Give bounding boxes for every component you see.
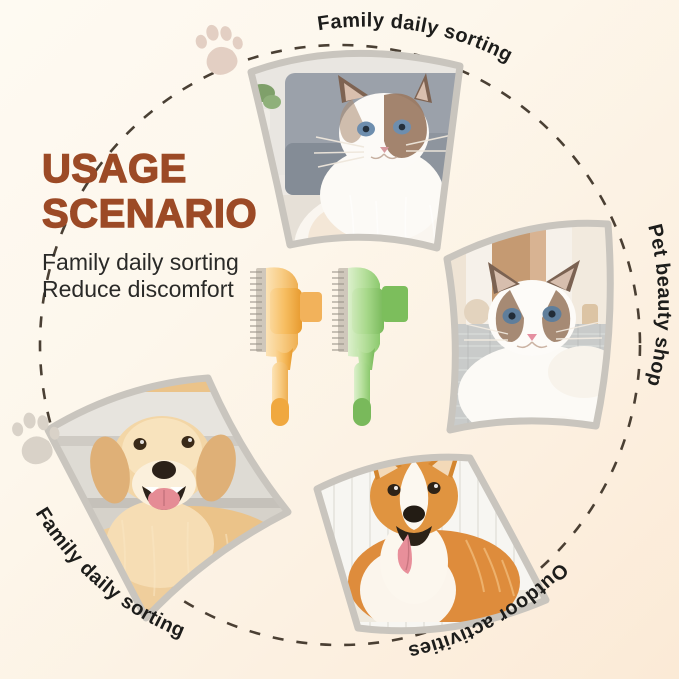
paw-print-middle-left	[10, 409, 63, 467]
segment-top-left[interactable]	[251, 53, 460, 248]
product-brush-orange[interactable]	[250, 267, 322, 426]
paw-print-top-left	[193, 18, 250, 79]
ring-diagram: Family daily sorting Pet beauty shop Out…	[0, 0, 679, 679]
segment-bottom-left[interactable]	[48, 378, 288, 618]
usage-scenario-infographic: Family daily sorting Pet beauty shop Out…	[0, 0, 679, 679]
segment-right[interactable]	[447, 223, 610, 430]
arc-label-right: Pet beauty shop	[642, 222, 675, 389]
product-brush-green[interactable]	[332, 267, 408, 426]
